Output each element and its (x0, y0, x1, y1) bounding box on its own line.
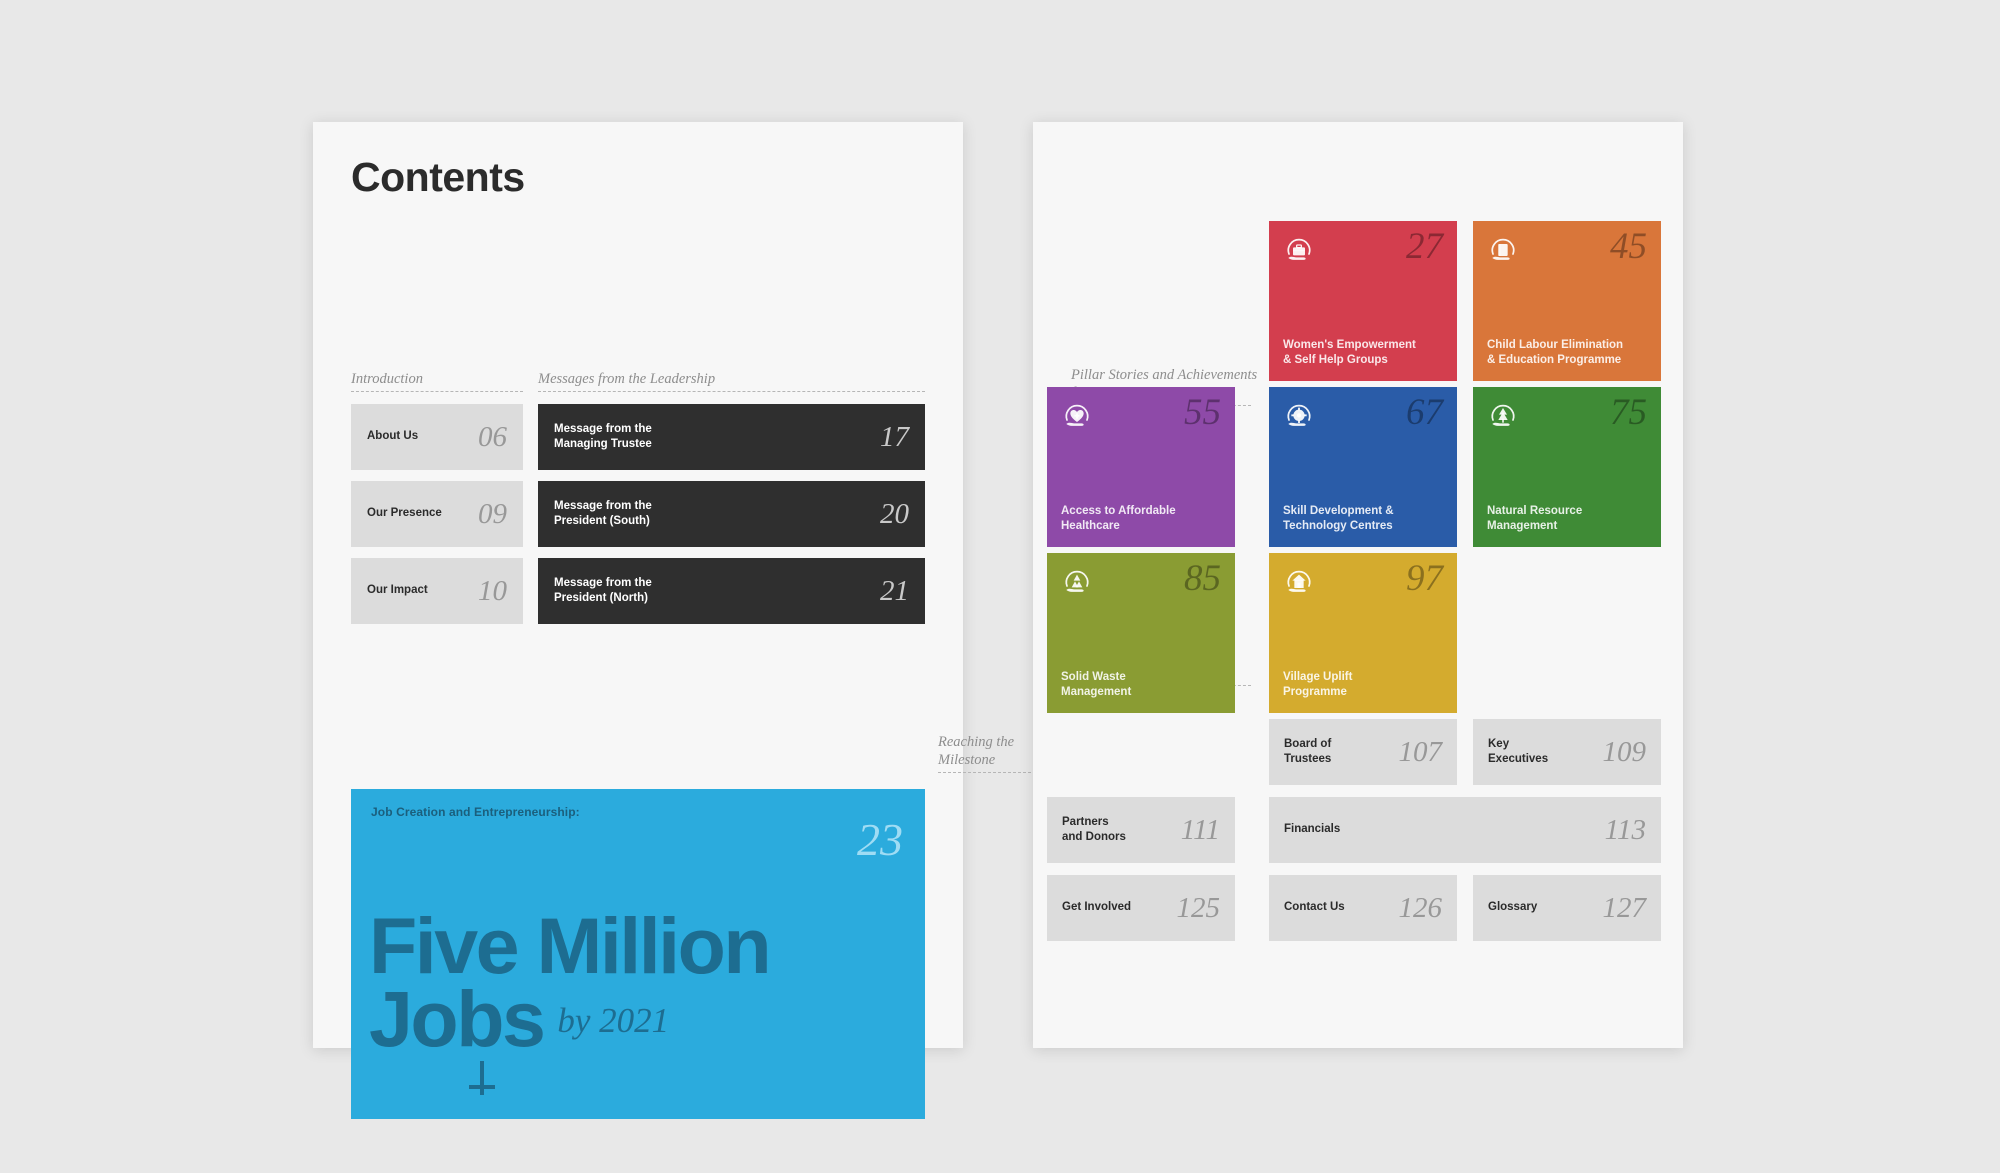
recycle-in-hand-icon (1061, 566, 1093, 598)
toc-item-about-us[interactable]: About Us 06 (351, 404, 523, 470)
operational-label: KeyExecutives (1488, 737, 1603, 768)
toc-column-introduction: Introduction About Us 06 Our Presence 09… (351, 370, 523, 635)
pillar-tile[interactable]: 97Village UpliftProgramme (1269, 553, 1457, 713)
toc-item-page: 20 (880, 500, 909, 529)
pillar-page-number: 85 (1184, 560, 1221, 597)
toc-column-heading: Introduction (351, 370, 523, 392)
right-page: Pillar Stories and Achievementsfor FY 20… (1033, 122, 1683, 1048)
page-title: Contents (351, 154, 525, 201)
operational-page-number: 109 (1603, 738, 1647, 767)
toc-item-page: 06 (478, 423, 507, 452)
pillar-page-number: 27 (1406, 228, 1443, 265)
toc-item-our-impact[interactable]: Our Impact 10 (351, 558, 523, 624)
toc-item-president-north[interactable]: Message from thePresident (North) 21 (538, 558, 925, 624)
pillar-tile[interactable]: 45Child Labour Elimination& Education Pr… (1473, 221, 1661, 381)
heart-in-hand-icon (1061, 400, 1093, 432)
toc-item-president-south[interactable]: Message from thePresident (South) 20 (538, 481, 925, 547)
toc-item-page: 21 (880, 577, 909, 606)
pillar-page-number: 45 (1610, 228, 1647, 265)
pillar-tile[interactable]: 85Solid WasteManagement (1047, 553, 1235, 713)
feature-headline-suffix: by 2021 (557, 1001, 669, 1040)
operational-page-number: 126 (1399, 894, 1443, 923)
pillar-page-number: 67 (1406, 394, 1443, 431)
toc-item-label: Our Presence (367, 506, 478, 521)
operational-page-number: 113 (1605, 816, 1646, 845)
pillar-tile[interactable]: 55Access to AffordableHealthcare (1047, 387, 1235, 547)
pillar-label: Child Labour Elimination& Education Prog… (1487, 338, 1649, 368)
operational-label: Contact Us (1284, 900, 1399, 915)
feature-kicker: Job Creation and Entrepreneurship: (371, 805, 905, 819)
operational-label: Partnersand Donors (1062, 815, 1181, 846)
operational-page-number: 127 (1603, 894, 1647, 923)
feature-page-number: 23 (857, 817, 903, 863)
toc-item-page: 17 (880, 423, 909, 452)
house-in-hand-icon (1283, 566, 1315, 598)
left-page: Contents Introduction About Us 06 Our Pr… (313, 122, 963, 1048)
operational-label: Glossary (1488, 900, 1603, 915)
pillar-page-number: 75 (1610, 394, 1647, 431)
operational-tile[interactable]: Partnersand Donors111 (1047, 797, 1235, 863)
pillar-tile[interactable]: 75Natural ResourceManagement (1473, 387, 1661, 547)
operational-label: Get Involved (1062, 900, 1177, 915)
toc-item-label: Message from thePresident (South) (554, 499, 880, 530)
pillar-label: Natural ResourceManagement (1487, 504, 1649, 534)
toc-item-label: Message from thePresident (North) (554, 576, 880, 607)
operational-tile[interactable]: Get Involved125 (1047, 875, 1235, 941)
toc-item-our-presence[interactable]: Our Presence 09 (351, 481, 523, 547)
feature-headline: Five Million Jobsby 2021 (369, 909, 909, 1056)
pillar-page-number: 55 (1184, 394, 1221, 431)
venus-symbol-icon (480, 1061, 484, 1095)
operational-tile[interactable]: Contact Us126 (1269, 875, 1457, 941)
operational-page-number: 111 (1181, 816, 1220, 845)
pillar-label: Solid WasteManagement (1061, 670, 1223, 700)
operational-page-number: 125 (1177, 894, 1221, 923)
operational-tile[interactable]: Glossary127 (1473, 875, 1661, 941)
operational-tile[interactable]: Financials113 (1269, 797, 1661, 863)
tree-in-hand-icon (1487, 400, 1519, 432)
pillar-label: Women's Empowerment& Self Help Groups (1283, 338, 1445, 368)
pillar-page-number: 97 (1406, 560, 1443, 597)
toc-item-label: About Us (367, 429, 478, 444)
feature-headline-line2: Jobs (369, 974, 543, 1063)
book-spread: Contents Introduction About Us 06 Our Pr… (0, 0, 2000, 1173)
gear-in-hand-icon (1283, 400, 1315, 432)
toc-item-managing-trustee[interactable]: Message from theManaging Trustee 17 (538, 404, 925, 470)
toc-item-page: 09 (478, 500, 507, 529)
feature-panel-job-creation[interactable]: Job Creation and Entrepreneurship: 23 Fi… (351, 789, 925, 1119)
operational-tile[interactable]: Board ofTrustees107 (1269, 719, 1457, 785)
book-in-hand-icon (1487, 234, 1519, 266)
pillar-label: Access to AffordableHealthcare (1061, 504, 1223, 534)
pillar-label: Village UpliftProgramme (1283, 670, 1445, 700)
toc-item-label: Message from theManaging Trustee (554, 422, 880, 453)
toc-column-leadership: Messages from the Leadership Message fro… (538, 370, 925, 635)
operational-label: Board ofTrustees (1284, 737, 1399, 768)
pillar-tile[interactable]: 67Skill Development &Technology Centres (1269, 387, 1457, 547)
pillar-tile[interactable]: 27Women's Empowerment& Self Help Groups (1269, 221, 1457, 381)
toc-grid: Introduction About Us 06 Our Presence 09… (351, 370, 925, 635)
pillar-label: Skill Development &Technology Centres (1283, 504, 1445, 534)
briefcase-in-hand-icon (1283, 234, 1315, 266)
operational-label: Financials (1284, 822, 1605, 837)
toc-column-heading: Messages from the Leadership (538, 370, 925, 392)
operational-page-number: 107 (1399, 738, 1443, 767)
toc-item-label: Our Impact (367, 583, 478, 598)
operational-tile[interactable]: KeyExecutives109 (1473, 719, 1661, 785)
toc-item-page: 10 (478, 577, 507, 606)
